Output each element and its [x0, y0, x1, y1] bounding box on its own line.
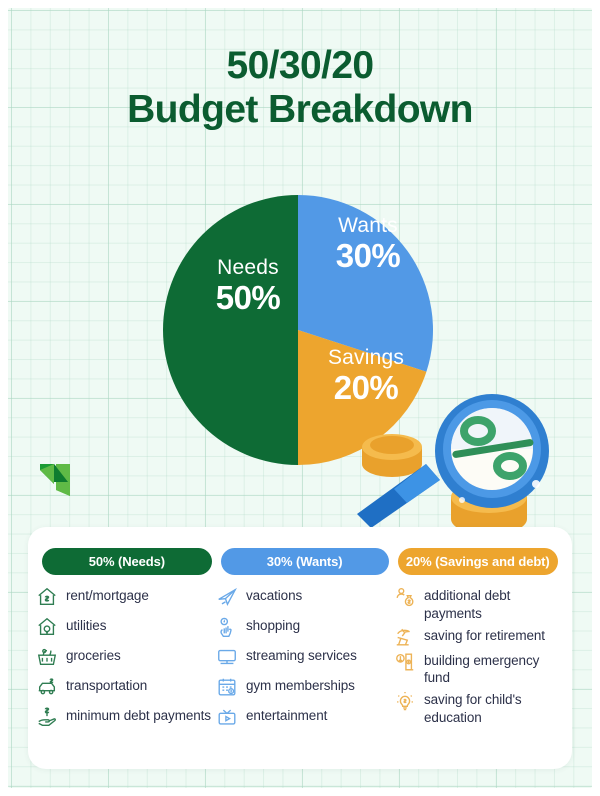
category-columns: rent/mortgage utilities groceries [36, 587, 564, 737]
list-item-label: additional debt payments [424, 587, 564, 623]
nerdwallet-logo[interactable] [38, 462, 72, 498]
list-item-label: transportation [66, 677, 147, 695]
category-column-wants: vacations shopping streaming services [216, 587, 394, 737]
legend-pill-wants[interactable]: 30% (Wants) [221, 548, 389, 575]
title-line-2: Budget Breakdown [0, 88, 600, 132]
bank-deposit-icon [394, 651, 416, 673]
grocery-basket-icon [36, 646, 58, 668]
category-column-savings: additional debt payments saving for reti… [394, 587, 564, 737]
list-item[interactable]: entertainment [216, 707, 394, 728]
list-item[interactable]: minimum debt payments [36, 707, 216, 728]
list-item[interactable]: vacations [216, 587, 394, 608]
person-money-bag-icon [394, 586, 416, 608]
list-item-label: vacations [246, 587, 302, 605]
magnifier-lens [435, 394, 549, 508]
house-bulb-icon [36, 616, 58, 638]
list-item-label: streaming services [246, 647, 357, 665]
legend-pill-savings[interactable]: 20% (Savings and debt) [398, 548, 558, 575]
hand-tap-icon [216, 616, 238, 638]
coin-stack-left-icon [362, 434, 422, 477]
list-item-label: gym memberships [246, 677, 355, 695]
list-item[interactable]: utilities [36, 617, 216, 638]
list-item-label: building emergency fund [424, 652, 564, 688]
calendar-icon [216, 676, 238, 698]
lightbulb-icon [394, 690, 416, 712]
list-item-label: utilities [66, 617, 106, 635]
hand-dollar-icon [36, 706, 58, 728]
beach-chair-icon [394, 626, 416, 648]
list-item[interactable]: building emergency fund [394, 652, 564, 688]
illustration-svg [344, 392, 580, 544]
magnifying-glass-with-percent-and-coins-illustration [344, 392, 580, 544]
list-item[interactable]: groceries [36, 647, 216, 668]
list-item[interactable]: saving for retirement [394, 627, 564, 648]
list-item-label: shopping [246, 617, 300, 635]
list-item[interactable]: transportation [36, 677, 216, 698]
list-item-label: rent/mortgage [66, 587, 149, 605]
car-dollar-icon [36, 676, 58, 698]
logo-n-icon [38, 462, 72, 498]
list-item[interactable]: streaming services [216, 647, 394, 668]
list-item[interactable]: additional debt payments [394, 587, 564, 623]
list-item-label: entertainment [246, 707, 327, 725]
title-line-1: 50/30/20 [0, 44, 600, 88]
house-dollar-icon [36, 586, 58, 608]
list-item-label: minimum debt payments [66, 707, 211, 725]
list-item[interactable]: gym memberships [216, 677, 394, 698]
infographic-page: 50/30/20 Budget Breakdown Needs 50% Want… [0, 0, 600, 796]
list-item-label: groceries [66, 647, 121, 665]
monitor-icon [216, 646, 238, 668]
legend-pill-needs[interactable]: 50% (Needs) [42, 548, 212, 575]
budget-categories-card: 50% (Needs) 30% (Wants) 20% (Savings and… [28, 527, 572, 769]
airplane-icon [216, 586, 238, 608]
list-item-label: saving for child's education [424, 691, 564, 727]
category-column-needs: rent/mortgage utilities groceries [36, 587, 216, 737]
tv-play-icon [216, 706, 238, 728]
page-title: 50/30/20 Budget Breakdown [0, 44, 600, 131]
list-item[interactable]: rent/mortgage [36, 587, 216, 608]
legend-pill-row: 50% (Needs) 30% (Wants) 20% (Savings and… [42, 548, 558, 575]
list-item[interactable]: shopping [216, 617, 394, 638]
list-item[interactable]: saving for child's education [394, 691, 564, 727]
pie-slice-needs[interactable] [163, 195, 298, 465]
list-item-label: saving for retirement [424, 627, 545, 645]
